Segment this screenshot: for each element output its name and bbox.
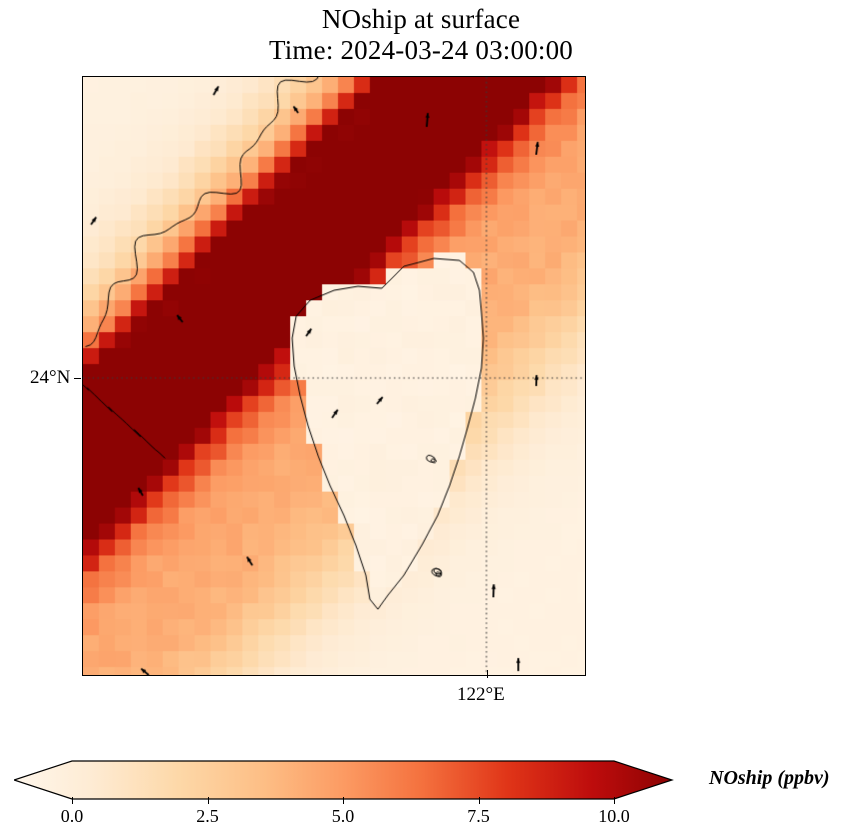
latitude-label-24n: 24°N <box>30 367 70 389</box>
latitude-tick-24n <box>74 378 81 379</box>
figure-title: NOship at surface Time: 2024-03-24 03:00… <box>0 4 842 67</box>
colorbar-tick <box>208 797 209 804</box>
colorbar-tick-label: 7.5 <box>467 806 490 827</box>
colorbar-tick-label: 10.0 <box>598 806 630 827</box>
colorbar-tick-label: 2.5 <box>196 806 219 827</box>
longitude-label-122e: 122°E <box>457 684 505 706</box>
colorbar-tick-label: 5.0 <box>332 806 355 827</box>
colorbar-tick <box>479 797 480 804</box>
colorbar-tick <box>72 797 73 804</box>
map-plot-area[interactable] <box>82 76 586 676</box>
longitude-tick-122e <box>487 670 488 678</box>
noship-heatmap-canvas <box>83 77 585 675</box>
colorbar-tick <box>343 797 344 804</box>
title-line-variable: NOship at surface <box>0 4 842 35</box>
colorbar-tick-label: 0.0 <box>61 806 84 827</box>
colorbar-tick <box>614 797 615 804</box>
colorbar-label: NOship (ppbv) <box>709 767 830 790</box>
title-line-time: Time: 2024-03-24 03:00:00 <box>0 35 842 66</box>
